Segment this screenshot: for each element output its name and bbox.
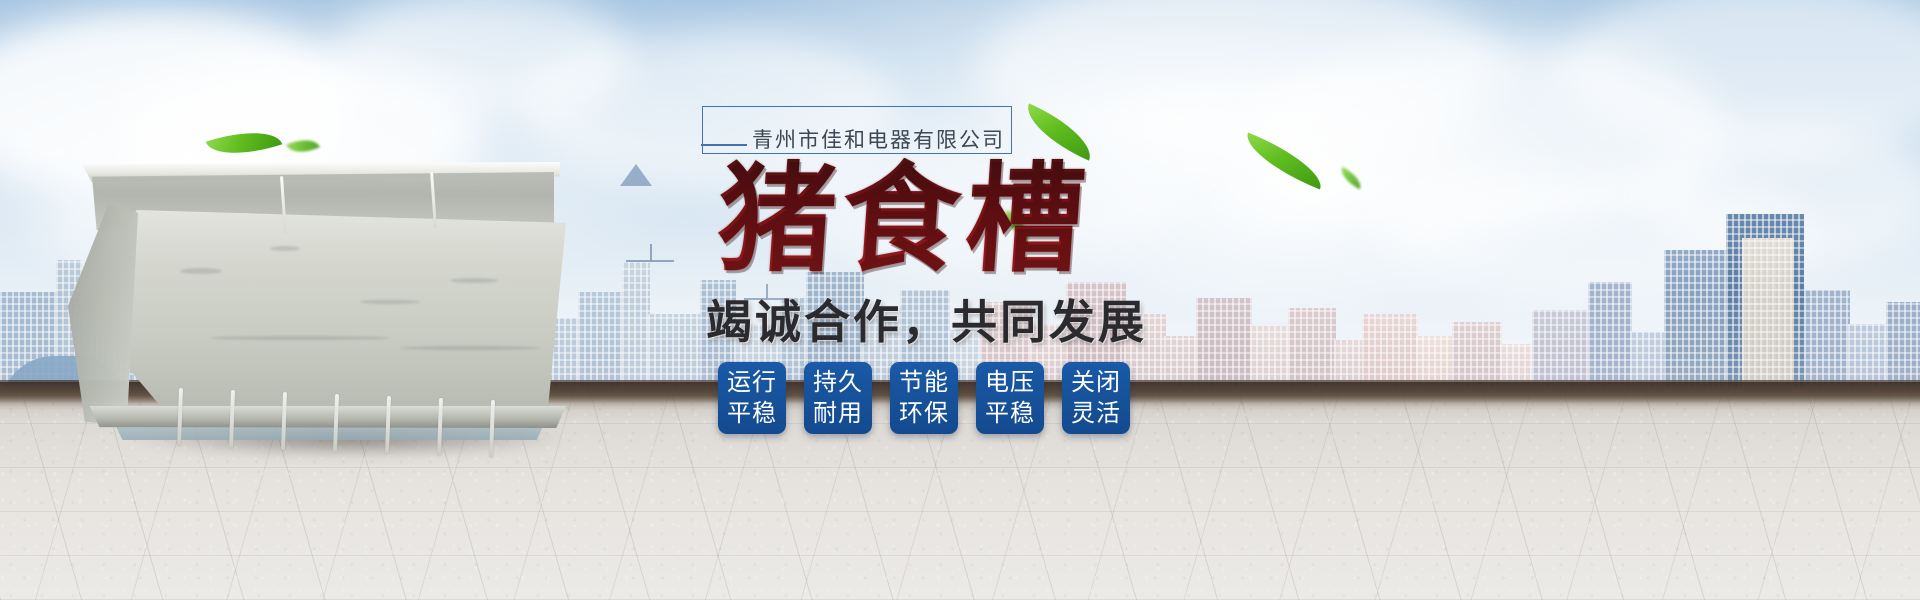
feature-badge-line1: 持久	[813, 367, 863, 398]
feature-badge-line2: 灵活	[1071, 398, 1121, 429]
company-name-rule	[701, 144, 747, 146]
feature-badge[interactable]: 电压 平稳	[976, 362, 1044, 434]
subtitle-slogan: 竭诚合作，共同发展	[706, 286, 1147, 352]
feature-badge-line2: 平稳	[985, 398, 1035, 429]
feature-badge-line2: 耐用	[813, 398, 863, 429]
product-image-feeding-trough	[60, 150, 580, 470]
trough-surface-mark	[180, 268, 222, 274]
trough-surface-mark	[360, 300, 420, 304]
feature-badge-line1: 运行	[727, 367, 777, 398]
feature-badge[interactable]: 持久 耐用	[804, 362, 872, 434]
feature-badge-line1: 节能	[899, 367, 949, 398]
feature-badge-line2: 平稳	[727, 398, 777, 429]
feature-badge-line1: 电压	[985, 367, 1035, 398]
trough-surface-mark	[270, 246, 300, 251]
feature-badge-list: 运行 平稳 持久 耐用 节能 环保 电压 平稳 关闭 灵活	[718, 362, 1130, 434]
trough-surface-mark	[210, 336, 390, 340]
feature-badge-line2: 环保	[899, 398, 949, 429]
trough-surface-mark	[450, 278, 498, 283]
promo-banner: 青州市佳和电器有限公司 猪食槽 竭诚合作，共同发展 运行 平稳 持久 耐用 节能…	[0, 0, 1920, 600]
feature-badge[interactable]: 运行 平稳	[718, 362, 786, 434]
feature-badge-line1: 关闭	[1071, 367, 1121, 398]
page-title: 猪食槽	[714, 158, 1095, 281]
trough-front-panel	[78, 210, 566, 424]
feature-badge[interactable]: 关闭 灵活	[1062, 362, 1130, 434]
trough-left-side	[68, 204, 138, 426]
feature-badge[interactable]: 节能 环保	[890, 362, 958, 434]
headline-text-block: 青州市佳和电器有限公司 猪食槽 竭诚合作，共同发展	[690, 96, 1210, 516]
trough-surface-mark	[400, 346, 540, 350]
